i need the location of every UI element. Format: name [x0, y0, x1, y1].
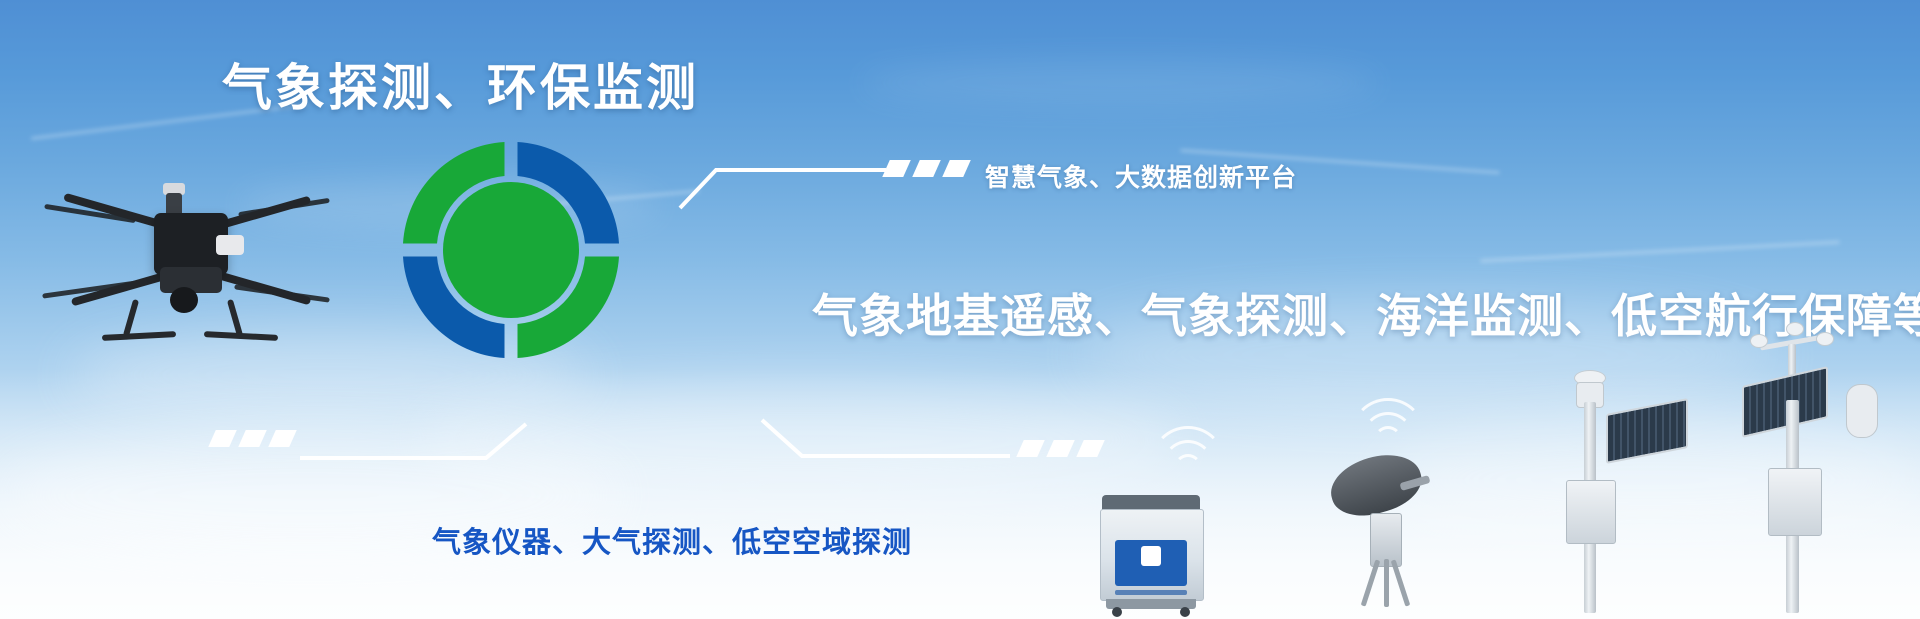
rain-gauge	[1846, 384, 1878, 438]
cabinet-logo	[1141, 546, 1161, 566]
page-title: 气象探测、环保监测	[222, 48, 699, 120]
drone-camera-gimbal	[170, 287, 198, 313]
marker-dash-icon	[942, 160, 971, 177]
four-quadrant-ring-diagram	[386, 125, 636, 375]
callout-marker-bottom-left	[212, 430, 293, 447]
marker-dash-icon	[208, 430, 237, 447]
cabinet-label	[1115, 590, 1187, 595]
ring-inner-circle	[443, 182, 579, 318]
solar-weather-station-a-image	[1560, 370, 1690, 613]
satellite-dish-image	[1322, 455, 1450, 613]
drone-image	[42, 175, 322, 365]
cabinet-body	[1100, 509, 1204, 601]
anemometer-cup	[1816, 332, 1834, 346]
solar-weather-station-b-image	[1742, 340, 1892, 613]
tripod-leg	[1384, 559, 1389, 607]
callout-text-top-right: 智慧气象、大数据创新平台	[985, 158, 1297, 194]
drone-skid	[102, 331, 176, 341]
connector-line-bottom-right	[760, 416, 1040, 476]
solar-panel	[1742, 366, 1828, 438]
marker-dash-icon	[882, 160, 911, 177]
connector-line-bottom-left	[300, 420, 600, 480]
cabinet-wheel	[1180, 607, 1190, 617]
marker-dash-icon	[912, 160, 941, 177]
drone-sensor	[216, 235, 244, 255]
marker-dash-icon	[238, 430, 267, 447]
marker-dash-icon	[1076, 440, 1105, 457]
drone-leg	[227, 299, 243, 337]
monitor-cabinet-image	[1100, 495, 1202, 613]
callout-marker-bottom-right	[1020, 440, 1101, 457]
cloud	[860, 60, 1380, 106]
callout-marker-top-right	[886, 160, 967, 177]
marker-dash-icon	[1016, 440, 1045, 457]
drone-skid	[204, 331, 278, 341]
instrument-enclosure	[1566, 480, 1616, 544]
anemometer-cup	[1786, 322, 1804, 336]
marker-dash-icon	[268, 430, 297, 447]
drone-leg	[123, 299, 139, 337]
anemometer-cup	[1750, 334, 1768, 348]
banner-root: 气象探测、环保监测 智慧气象、大数据创新平台 气象地基遥感、气象探测、海洋监测、…	[0, 0, 1920, 619]
solar-panel	[1606, 398, 1688, 464]
marker-dash-icon	[1046, 440, 1075, 457]
instrument-enclosure	[1768, 468, 1822, 536]
cabinet-wheel	[1112, 607, 1122, 617]
signal-waves-icon	[1348, 392, 1428, 442]
callout-text-bottom-left: 气象仪器、大气探测、低空空域探测	[432, 519, 912, 561]
signal-waves-icon	[1148, 420, 1228, 470]
